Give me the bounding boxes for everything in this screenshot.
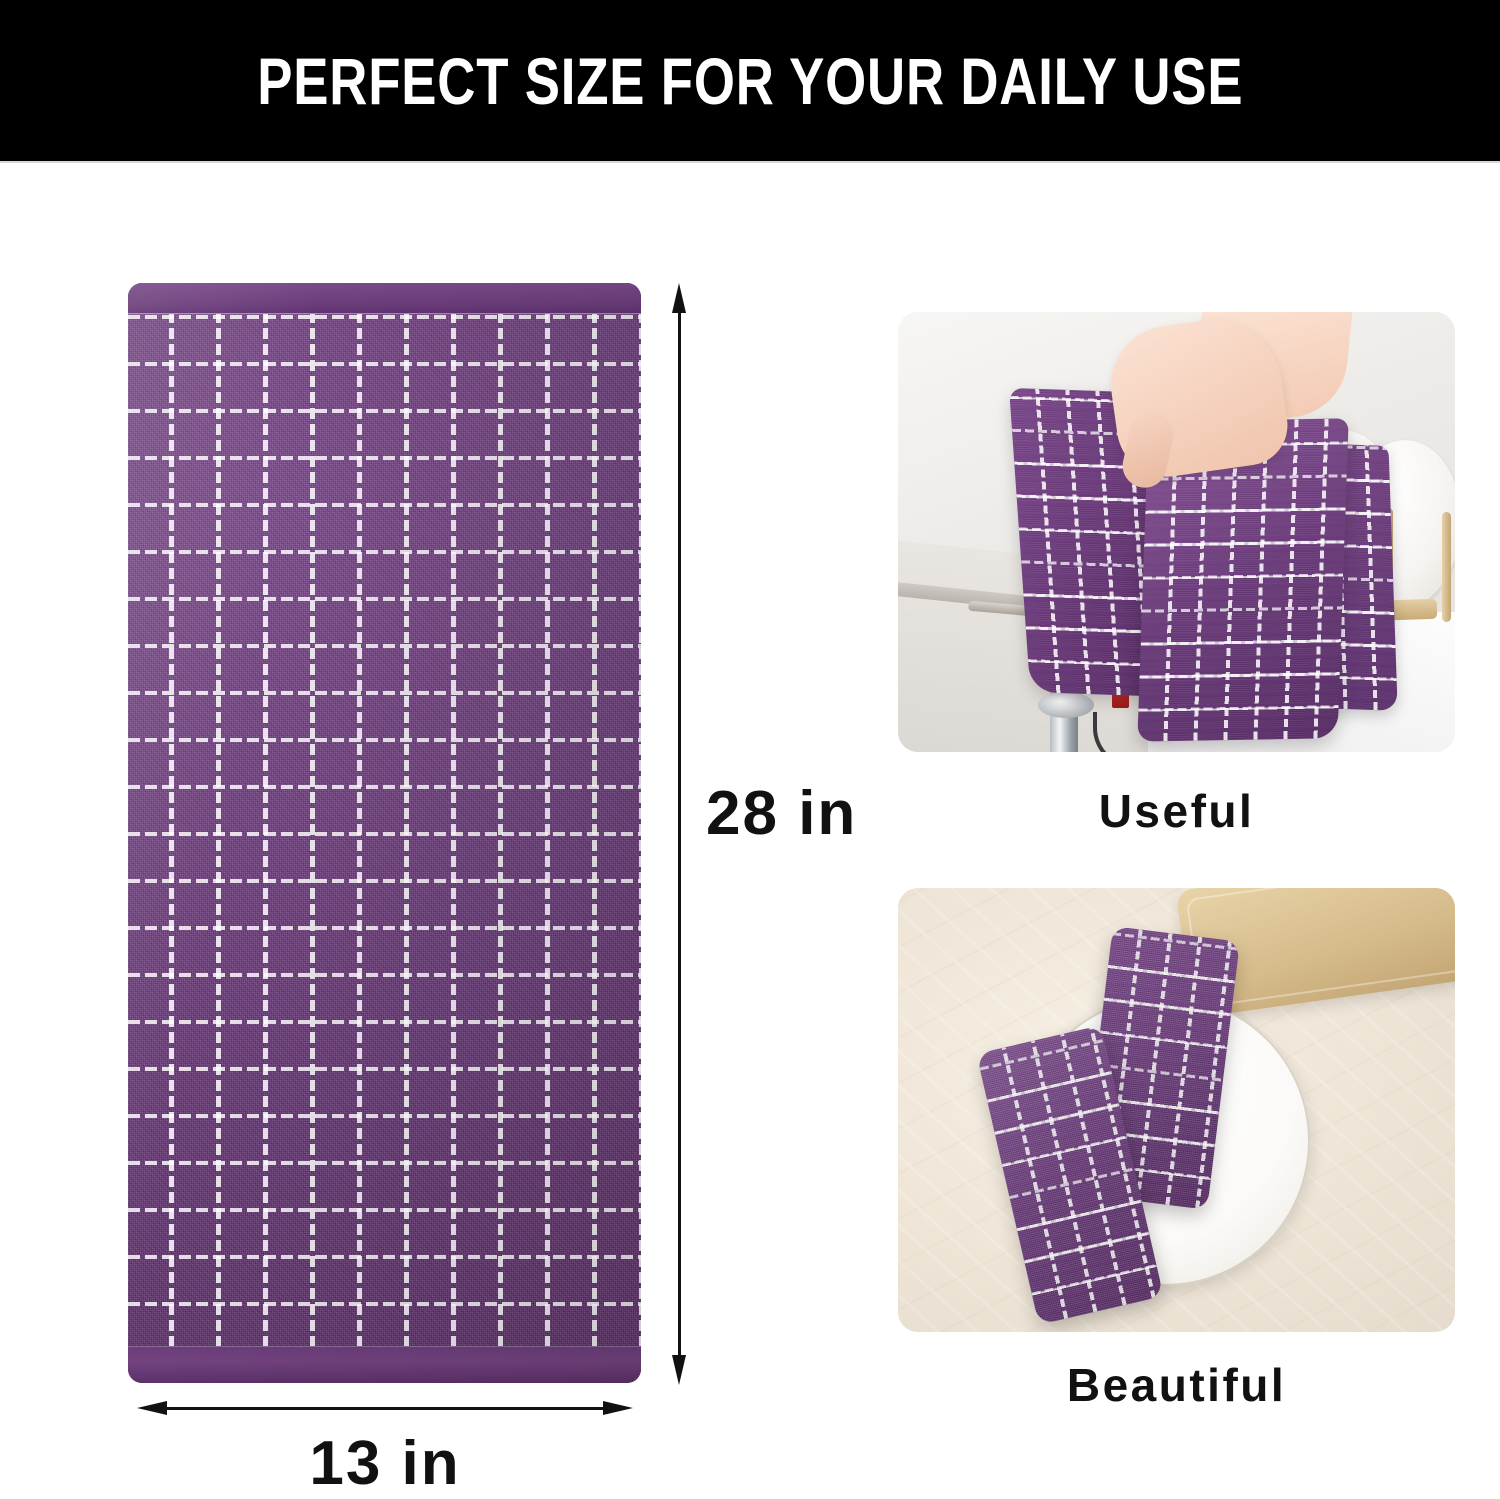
towel-sheen-overlay <box>128 283 641 1383</box>
faucet-base <box>1038 692 1094 718</box>
page-title: PERFECT SIZE FOR YOUR DAILY USE <box>257 43 1243 119</box>
header-banner: PERFECT SIZE FOR YOUR DAILY USE <box>0 0 1500 161</box>
photo-card-beautiful <box>898 888 1455 1332</box>
height-dimension-label: 28 in <box>706 778 857 849</box>
banner-divider <box>0 161 1500 163</box>
dish-rack-peg-3 <box>1442 512 1451 622</box>
height-dimension-arrow <box>672 283 686 1385</box>
arrow-head-down-icon <box>672 1355 686 1385</box>
arrow-shaft-vertical <box>678 305 681 1363</box>
width-dimension-arrow <box>137 1401 633 1415</box>
photo-card-useful <box>898 312 1455 752</box>
product-towel-illustration <box>128 283 641 1383</box>
towel-body <box>128 283 641 1383</box>
arrow-shaft-horizontal <box>159 1407 611 1410</box>
caption-beautiful: Beautiful <box>898 1358 1455 1412</box>
arrow-head-right-icon <box>603 1401 633 1415</box>
caption-useful: Useful <box>898 784 1455 838</box>
width-dimension-label: 13 in <box>0 1428 770 1499</box>
